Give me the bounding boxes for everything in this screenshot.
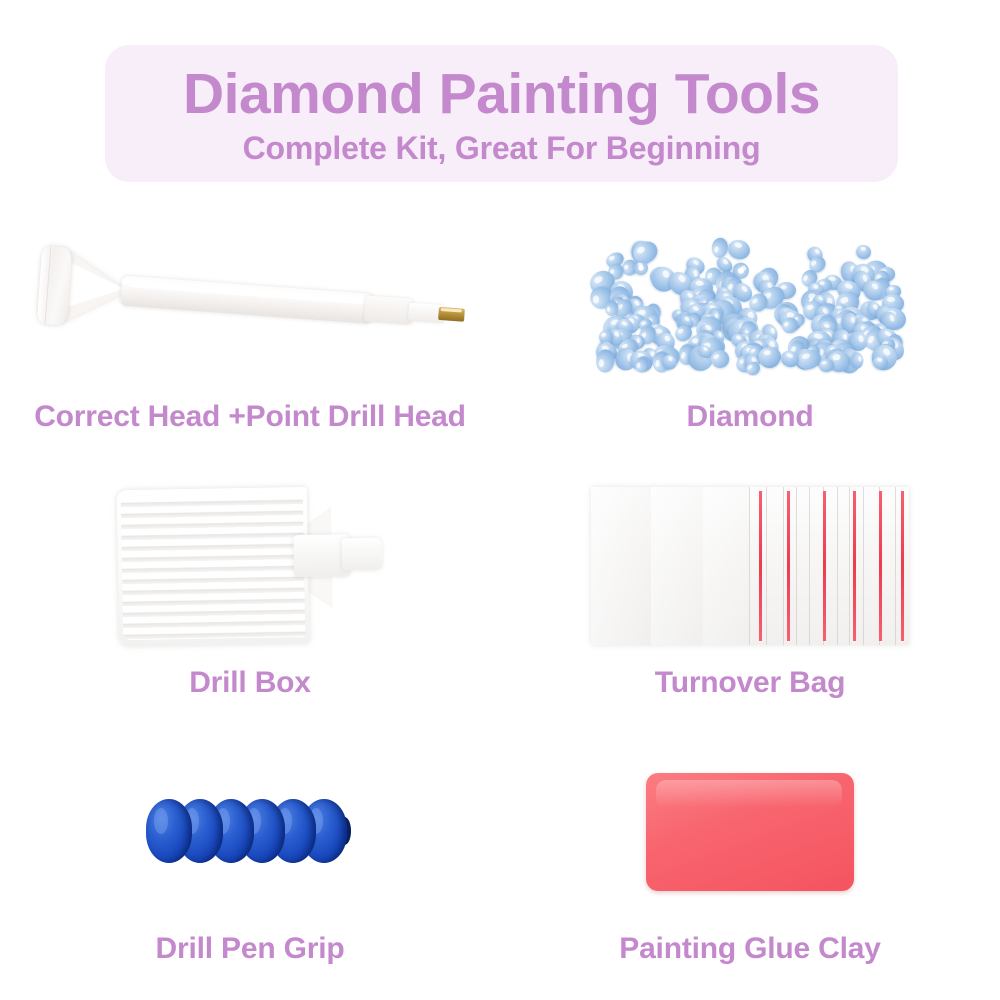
glue-clay-visual — [500, 732, 1000, 932]
diamond-drill — [757, 346, 781, 366]
bag-fold-line — [809, 487, 810, 645]
diamond-visual — [500, 200, 1000, 400]
pen-cone-highlight — [68, 263, 126, 311]
item-glue-clay: Painting Glue Clay — [500, 732, 1000, 998]
diamond-drill — [850, 353, 864, 369]
item-drill-pen-grip: Drill Pen Grip — [0, 732, 500, 998]
drill-pen-icon — [32, 229, 469, 370]
header-banner: Diamond Painting Tools Complete Kit, Gre… — [105, 45, 898, 182]
pen-collar — [364, 295, 414, 324]
diamond-drill — [725, 238, 751, 263]
item-drill-pen: Correct Head +Point Drill Head — [0, 200, 500, 466]
grip-bead — [146, 799, 192, 863]
turnover-bag-icon — [591, 487, 909, 645]
bag-fold-line — [863, 487, 864, 645]
item-label-diamond: Diamond — [687, 400, 814, 434]
bag-zip-stripe — [823, 491, 826, 641]
bag-zip-stripe — [787, 491, 790, 641]
drill-box-spout — [342, 538, 383, 571]
item-label-drill-box: Drill Box — [189, 666, 311, 700]
item-label-turnover-bag: Turnover Bag — [655, 666, 845, 700]
turnover-bag-visual — [500, 466, 1000, 666]
bag-fold-line — [796, 487, 797, 645]
diamond-drill — [604, 300, 618, 316]
drill-pen-visual — [0, 200, 500, 400]
bag-sheen — [703, 487, 749, 645]
product-infographic: Diamond Painting Tools Complete Kit, Gre… — [0, 0, 1000, 1000]
item-drill-box: Drill Box — [0, 466, 500, 732]
item-label-drill-pen: Correct Head +Point Drill Head — [34, 400, 466, 434]
item-diamond: Diamond — [500, 200, 1000, 466]
bag-fold-line — [749, 487, 750, 645]
diamond-drill — [854, 243, 872, 261]
bag-fold-line — [837, 487, 838, 645]
bag-zip-stripe — [759, 491, 762, 641]
item-turnover-bag: Turnover Bag — [500, 466, 1000, 732]
bag-sheen — [591, 487, 651, 645]
item-label-glue-clay: Painting Glue Clay — [619, 932, 880, 966]
drill-box-ribs — [121, 493, 305, 640]
bag-fold-line — [766, 487, 767, 645]
drill-pen-grip-visual — [0, 732, 500, 932]
bag-zip-stripe — [853, 491, 856, 641]
items-grid: Correct Head +Point Drill Head Diamond — [0, 200, 1000, 1000]
diamond-drill — [595, 350, 615, 374]
diamond-drill — [710, 237, 728, 258]
drill-box-body — [117, 487, 310, 646]
drill-pen-grip-icon — [146, 795, 354, 869]
bag-zip-stripe — [901, 491, 904, 641]
glue-clay-icon — [646, 773, 854, 891]
drill-box-visual — [0, 466, 500, 666]
bag-fold-line — [849, 487, 850, 645]
diamond-drill — [818, 358, 834, 373]
page-title: Diamond Painting Tools — [183, 65, 820, 125]
bag-zip-stripe — [879, 491, 882, 641]
glue-clay-gloss — [656, 780, 842, 808]
bag-sheen — [651, 487, 703, 645]
page-subtitle: Complete Kit, Great For Beginning — [243, 131, 761, 166]
bag-fold-line — [783, 487, 784, 645]
drill-box-icon — [117, 478, 384, 655]
diamond-pile-icon — [589, 224, 911, 376]
bag-fold-line — [895, 487, 896, 645]
item-label-drill-pen-grip: Drill Pen Grip — [156, 932, 345, 966]
